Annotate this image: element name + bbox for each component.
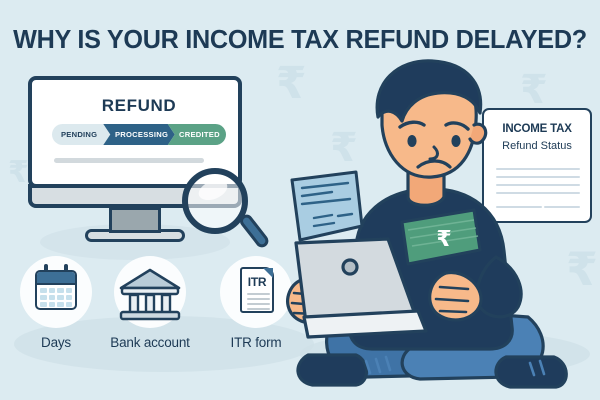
feature-icon-circle [114, 256, 186, 328]
refund-heading: REFUND [32, 96, 246, 116]
laptop-keyboard [304, 311, 426, 337]
progress-step-pending[interactable]: PENDING [52, 124, 110, 145]
tax-document-paper [284, 170, 370, 248]
bank-icon [114, 256, 186, 328]
calendar-grid [37, 285, 75, 310]
shoe-right [496, 357, 566, 387]
feature-item-days[interactable]: Days [10, 256, 102, 350]
page-title: WHY IS YOUR INCOME TAX REFUND DELAYED? [9, 24, 591, 55]
feature-label-bank-account: Bank account [104, 335, 196, 350]
eye-left [407, 135, 416, 147]
feature-label-days: Days [10, 335, 102, 350]
magnifier-glare [196, 176, 231, 204]
monitor-stand [109, 207, 161, 233]
rupee-card-icon: ₹ [398, 208, 484, 270]
feature-item-bank-account[interactable]: Bank account [104, 256, 196, 350]
screen-placeholder-line [54, 158, 204, 163]
calendar-header [37, 272, 75, 285]
progress-step-credited[interactable]: CREDITED [168, 124, 226, 145]
refund-progress-bar: PENDING PROCESSING CREDITED [52, 124, 226, 145]
rupee-watermark-icon: ₹ [8, 158, 29, 188]
illustration-canvas: ₹ ₹ ₹ ₹ ₹ ₹ WHY IS YOUR INCOME TAX REFUN… [0, 0, 600, 400]
rupee-symbol: ₹ [436, 227, 451, 252]
shoe-left [298, 355, 367, 385]
feature-icon-circle [20, 256, 92, 328]
calendar-icon [35, 270, 77, 310]
magnifier-lens [182, 168, 248, 234]
laptop-logo [343, 260, 357, 274]
progress-step-processing[interactable]: PROCESSING [103, 124, 175, 145]
eye-right [451, 135, 460, 147]
